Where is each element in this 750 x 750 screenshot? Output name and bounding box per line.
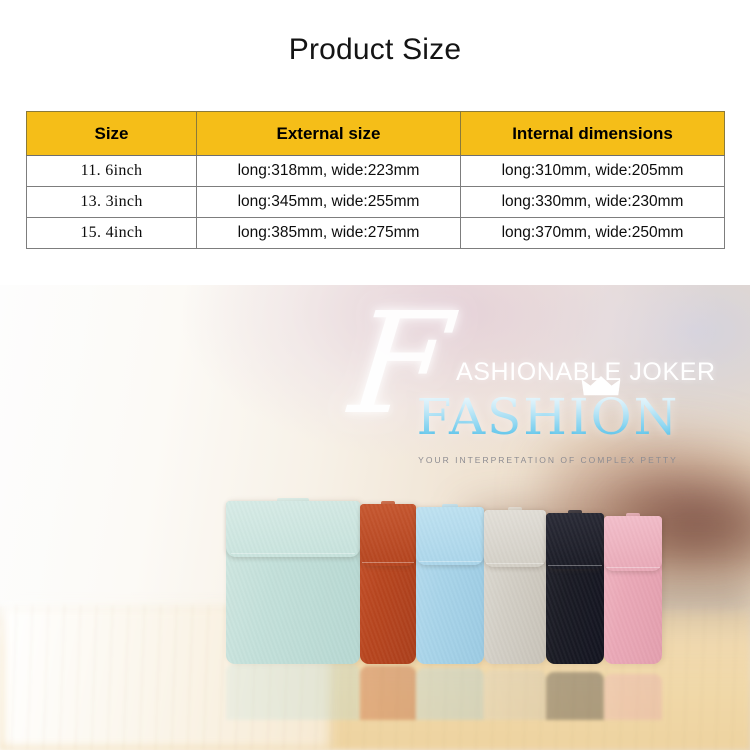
rust-orange-sleeve xyxy=(360,504,416,664)
gray-beige-sleeve xyxy=(484,510,546,664)
sleeve-flap xyxy=(484,510,546,567)
column-header-internal-dimensions: Internal dimensions xyxy=(461,112,725,156)
black-navy-sleeve-reflection xyxy=(546,672,604,720)
cell-size: 13. 3inch xyxy=(27,187,197,218)
table-row: 11. 6inch long:318mm, wide:223mm long:31… xyxy=(27,156,725,187)
table-row: 15. 4inch long:385mm, wide:275mm long:37… xyxy=(27,218,725,249)
table-row: 13. 3inch long:345mm, wide:255mm long:33… xyxy=(27,187,725,218)
cell-external-size: long:385mm, wide:275mm xyxy=(197,218,461,249)
gray-beige-sleeve-reflection xyxy=(484,670,546,720)
rust-orange-sleeve-reflection xyxy=(360,666,416,720)
sleeve-flap xyxy=(360,504,416,566)
light-blue-sleeve-reflection xyxy=(416,668,484,720)
pink-sleeve-reflection xyxy=(604,674,662,720)
product-sleeve-row xyxy=(0,285,750,750)
pink-sleeve xyxy=(604,516,662,664)
sleeve-flap xyxy=(226,501,360,557)
sleeve-flap xyxy=(416,507,484,565)
light-blue-sleeve xyxy=(416,507,484,664)
cell-internal-dimensions: long:370mm, wide:250mm xyxy=(461,218,725,249)
column-header-external-size: External size xyxy=(197,112,461,156)
cell-size: 11. 6inch xyxy=(27,156,197,187)
product-lifestyle-photo: F ASHIONABLE JOKER FASHION YOUR INTERPRE… xyxy=(0,285,750,750)
cell-internal-dimensions: long:330mm, wide:230mm xyxy=(461,187,725,218)
mint-green-sleeve-reflection xyxy=(226,664,360,720)
product-size-table: Size External size Internal dimensions 1… xyxy=(26,111,725,249)
page-title: Product Size xyxy=(0,33,750,67)
column-header-size: Size xyxy=(27,112,197,156)
black-navy-sleeve xyxy=(546,513,604,664)
sleeve-flap xyxy=(604,516,662,571)
sleeve-flap xyxy=(546,513,604,569)
cell-external-size: long:318mm, wide:223mm xyxy=(197,156,461,187)
cell-size: 15. 4inch xyxy=(27,218,197,249)
mint-green-sleeve xyxy=(226,501,360,664)
product-size-section: Product Size Size External size Internal… xyxy=(0,0,750,285)
table-header-row: Size External size Internal dimensions xyxy=(27,112,725,156)
cell-internal-dimensions: long:310mm, wide:205mm xyxy=(461,156,725,187)
cell-external-size: long:345mm, wide:255mm xyxy=(197,187,461,218)
